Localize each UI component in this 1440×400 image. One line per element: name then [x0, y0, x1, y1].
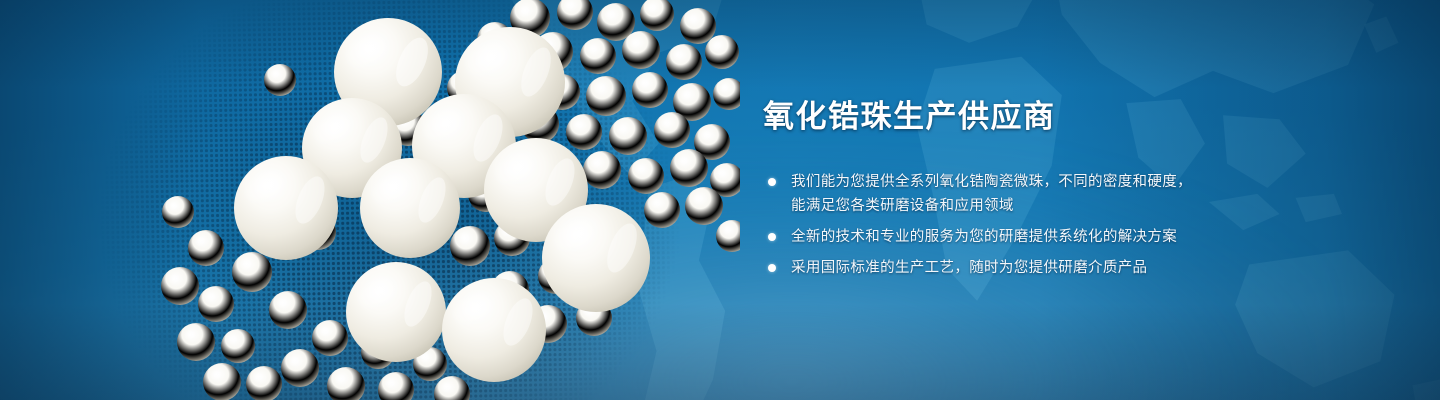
list-item: 我们能为您提供全系列氧化锆陶瓷微珠，不同的密度和硬度， 能满足您各类研磨设备和应…: [763, 170, 1283, 218]
list-item: 全新的技术和专业的服务为您的研磨提供系统化的解决方案: [763, 225, 1283, 249]
bullet-dot-icon: [768, 264, 776, 272]
bullet-line: 能满足您各类研磨设备和应用领域: [791, 194, 1283, 218]
bullet-line: 我们能为您提供全系列氧化锆陶瓷微珠，不同的密度和硬度，: [791, 170, 1283, 194]
bullet-dot-icon: [768, 178, 776, 186]
banner-copy: 氧化锆珠生产供应商 我们能为您提供全系列氧化锆陶瓷微珠，不同的密度和硬度， 能满…: [763, 100, 1283, 280]
bullet-dot-icon: [768, 233, 776, 241]
hero-banner: 氧化锆珠生产供应商 我们能为您提供全系列氧化锆陶瓷微珠，不同的密度和硬度， 能满…: [0, 0, 1440, 400]
zirconia-bead-cluster-image: [0, 0, 740, 400]
list-item: 采用国际标准的生产工艺，随时为您提供研磨介质产品: [763, 256, 1283, 280]
bullet-line: 采用国际标准的生产工艺，随时为您提供研磨介质产品: [791, 256, 1283, 280]
page-title: 氧化锆珠生产供应商: [763, 100, 1283, 134]
bullet-line: 全新的技术和专业的服务为您的研磨提供系统化的解决方案: [791, 225, 1283, 249]
feature-list: 我们能为您提供全系列氧化锆陶瓷微珠，不同的密度和硬度， 能满足您各类研磨设备和应…: [763, 170, 1283, 280]
